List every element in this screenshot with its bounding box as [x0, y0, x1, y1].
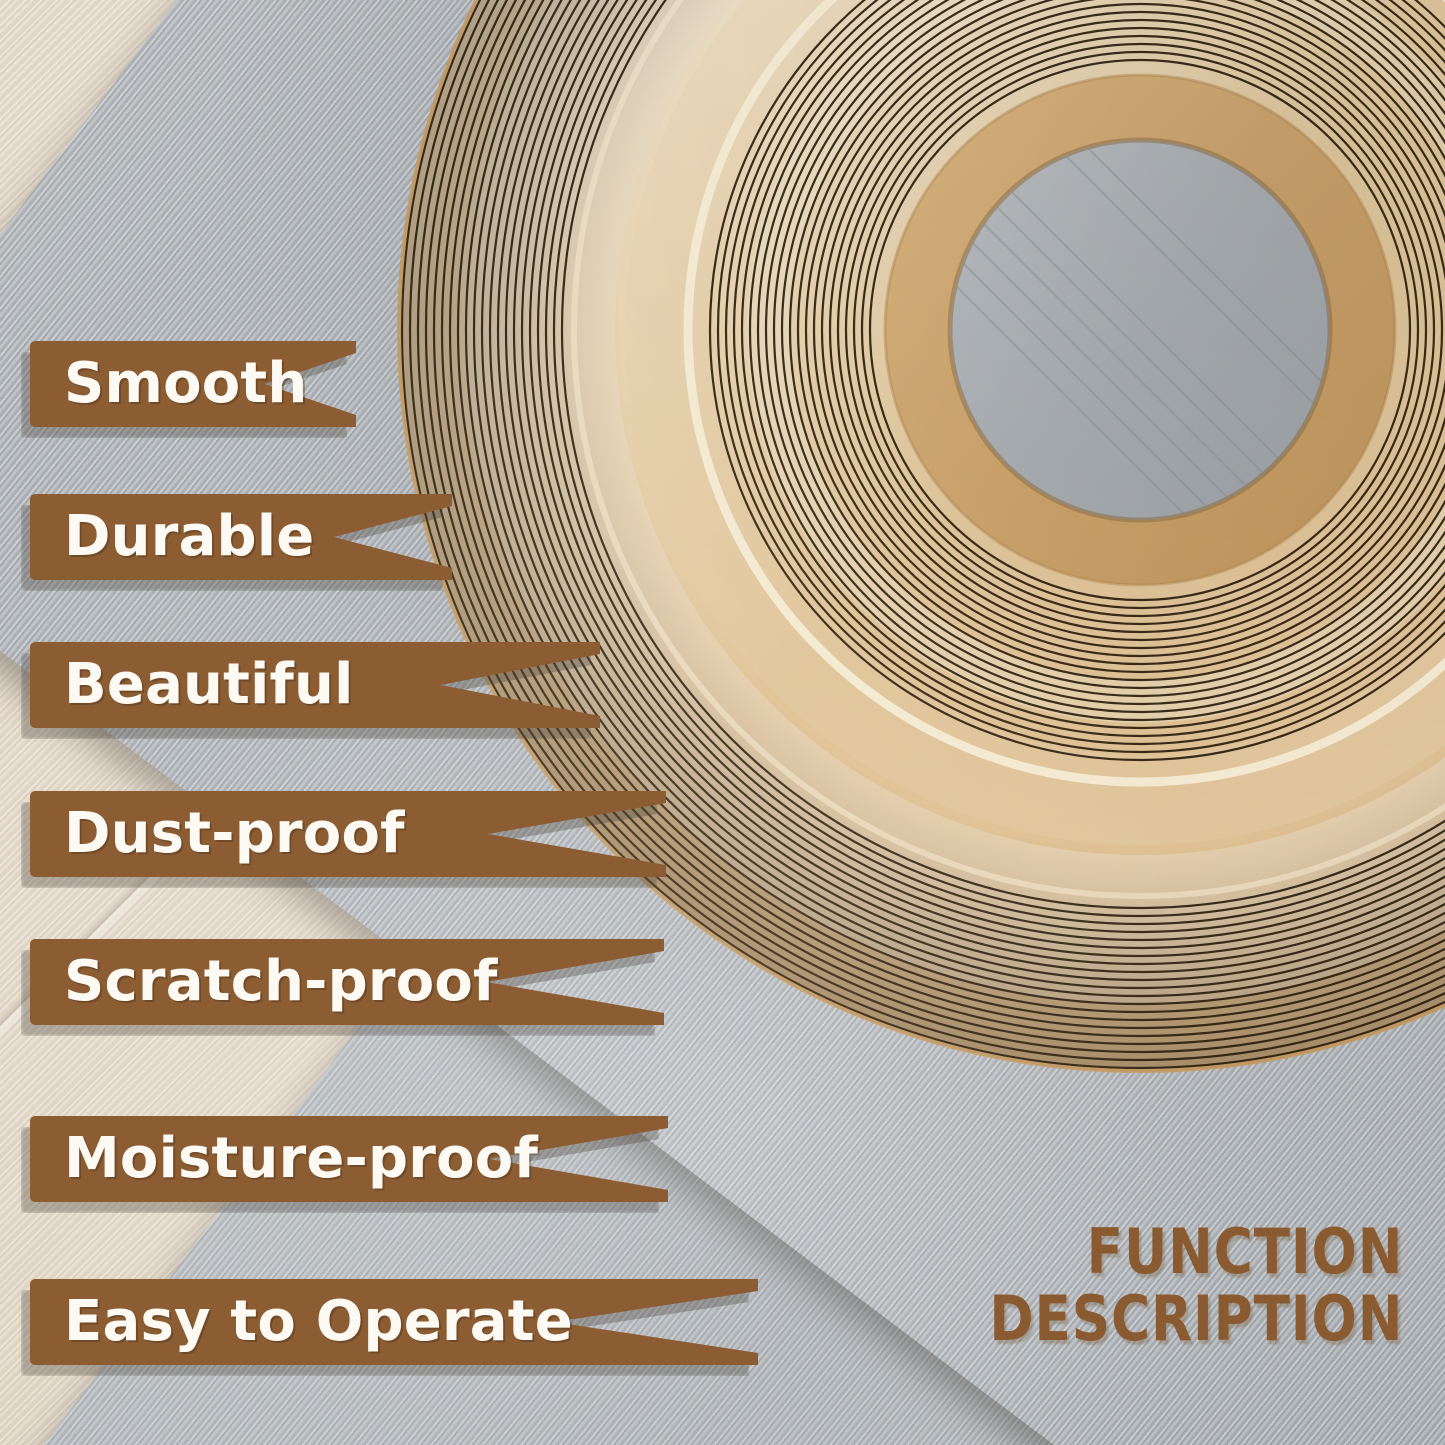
feature-label: Easy to Operate — [30, 1294, 573, 1350]
feature-banner: Easy to Operate — [30, 1279, 758, 1365]
function-description-heading: FUNCTION DESCRIPTION — [989, 1219, 1403, 1353]
heading-line-2: DESCRIPTION — [989, 1286, 1403, 1353]
feature-label: Durable — [30, 509, 314, 565]
feature-banner: Moisture-proof — [30, 1116, 668, 1202]
feature-label: Smooth — [30, 356, 307, 412]
feature-label: Dust-proof — [30, 806, 405, 862]
feature-label: Moisture-proof — [30, 1131, 538, 1187]
feature-label: Scratch-proof — [30, 954, 498, 1010]
feature-banner: Beautiful — [30, 642, 600, 728]
feature-banner: Dust-proof — [30, 791, 666, 877]
heading-line-1: FUNCTION — [1086, 1215, 1403, 1288]
feature-banner: Scratch-proof — [30, 939, 664, 1025]
feature-banner: Durable — [30, 494, 452, 580]
feature-banner: Smooth — [30, 341, 356, 427]
feature-label: Beautiful — [30, 657, 354, 713]
product-image-canvas: Smooth Durable Beautiful Dust-proof Scra… — [0, 0, 1445, 1445]
